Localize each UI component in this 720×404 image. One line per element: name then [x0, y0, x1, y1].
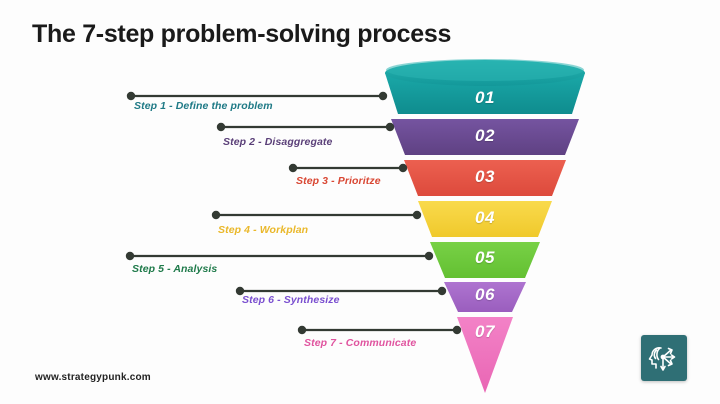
footer-website-url: www.strategypunk.com: [35, 372, 151, 383]
funnel-number-07: 07: [445, 322, 525, 342]
funnel-number-06: 06: [445, 285, 525, 305]
funnel-number-02: 02: [445, 126, 525, 146]
step-label-1: Step 1 - Define the problem: [134, 100, 273, 112]
funnel-number-01: 01: [445, 88, 525, 108]
step-label-2: Step 2 - Disaggregate: [223, 136, 332, 148]
connector-line-03: [289, 164, 407, 172]
step-label-4: Step 4 - Workplan: [218, 224, 308, 236]
step-label-7: Step 7 - Communicate: [304, 337, 416, 349]
head-network-icon: [650, 348, 675, 370]
slide-canvas: The 7-step problem-solving process: [0, 0, 720, 404]
connector-line-02: [217, 123, 394, 131]
step-label-5: Step 5 - Analysis: [132, 263, 217, 275]
connector-line-05: [126, 252, 433, 260]
strategypunk-logo[interactable]: [641, 335, 687, 381]
funnel-number-05: 05: [445, 248, 525, 268]
connector-line-07: [298, 326, 461, 334]
step-label-3: Step 3 - Prioritze: [296, 175, 381, 187]
funnel-number-04: 04: [445, 208, 525, 228]
connector-line-01: [127, 92, 387, 100]
step-label-6: Step 6 - Synthesize: [242, 294, 340, 306]
funnel-number-03: 03: [445, 167, 525, 187]
connector-line-04: [212, 211, 421, 219]
